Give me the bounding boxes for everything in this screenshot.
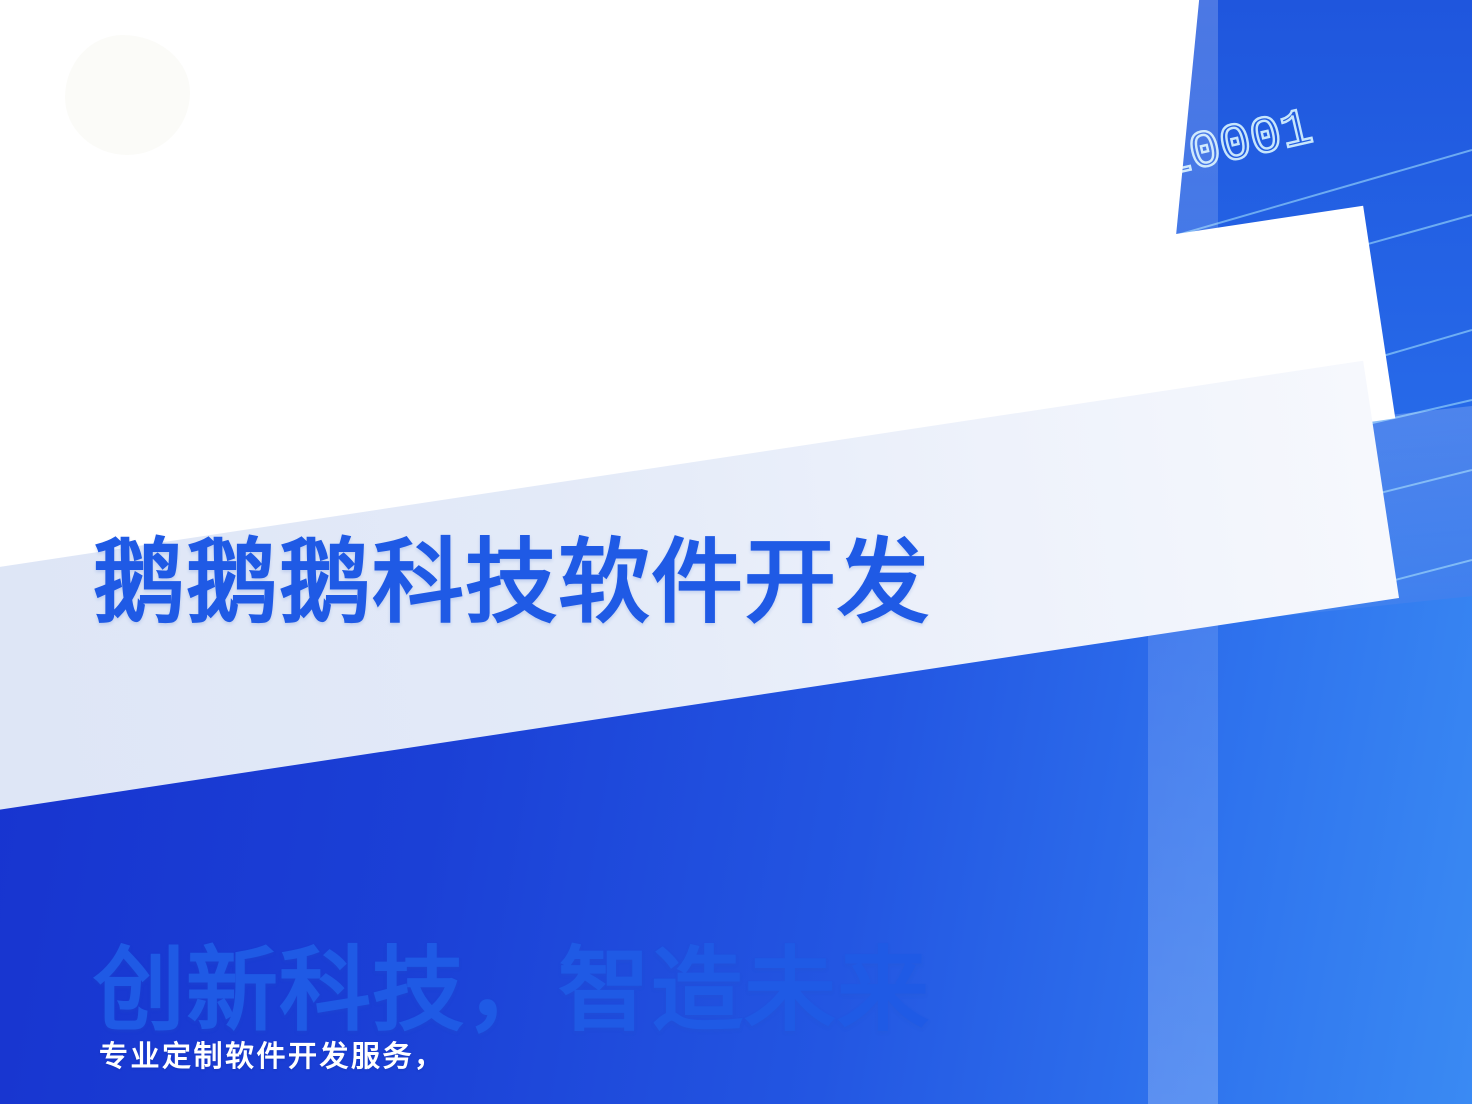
decorative-blob — [65, 35, 190, 155]
headline-line-1: 鹅鹅鹅科技软件开发 — [93, 515, 930, 651]
promo-poster: 0110001 11001111 10111000 010101 1010 11… — [0, 0, 1472, 1104]
page-subtitle: 专业定制软件开发服务， 助力企业数字化转型 — [99, 920, 446, 1104]
subtitle-line-1: 专业定制软件开发服务， — [99, 1030, 446, 1085]
